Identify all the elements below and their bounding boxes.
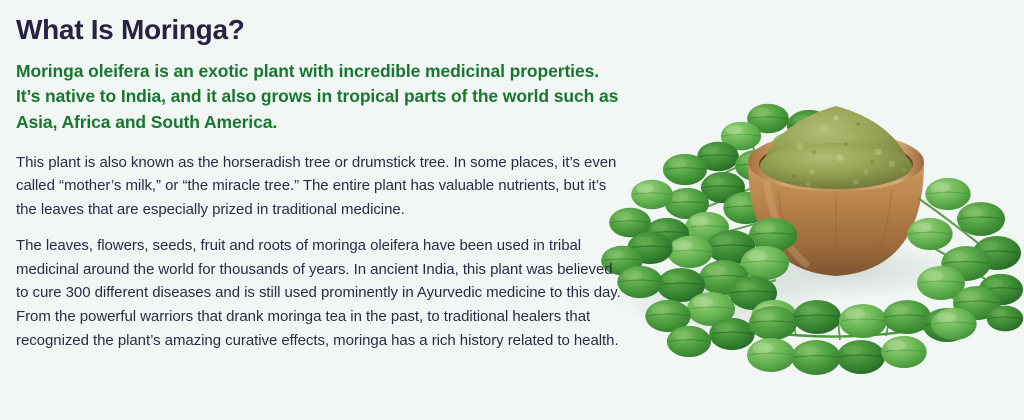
article-container: What Is Moringa? Moringa oleifera is an … [0, 0, 1024, 420]
page-title: What Is Moringa? [16, 14, 624, 46]
article-paragraph-2: The leaves, flowers, seeds, fruit and ro… [16, 234, 624, 352]
article-lede: Moringa oleifera is an exotic plant with… [16, 59, 624, 135]
article-paragraph-1: This plant is also known as the horserad… [16, 151, 624, 222]
text-column: What Is Moringa? Moringa oleifera is an … [16, 14, 624, 352]
moringa-photo [600, 58, 1024, 420]
